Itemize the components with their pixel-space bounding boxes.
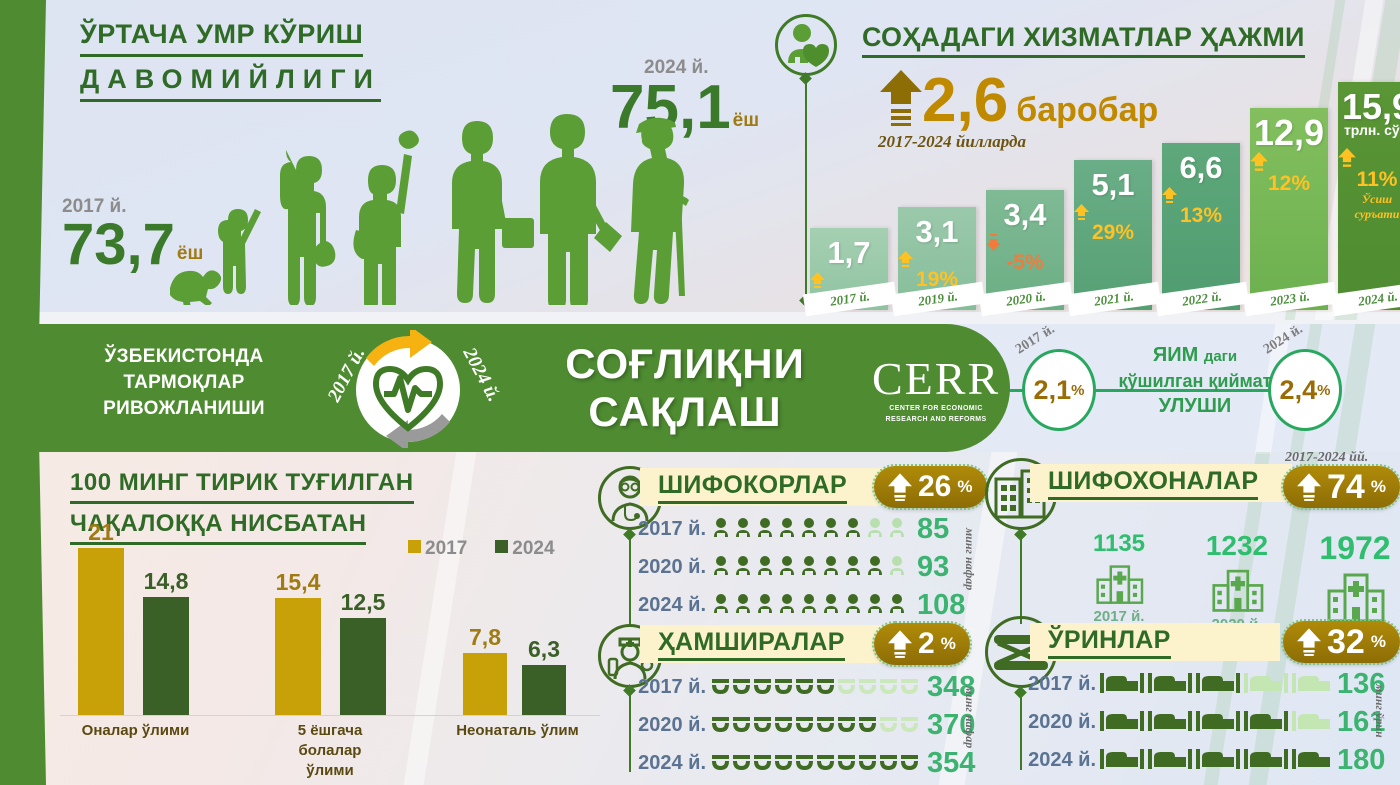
arrow-up-icon <box>1297 472 1321 502</box>
beds-title: ЎРИНЛАР <box>1048 626 1171 659</box>
beds-unit-label: минг ўрин <box>1372 684 1387 738</box>
bar-2023-value: 12,9 <box>1250 108 1328 150</box>
nurses-change-badge: 2% <box>874 623 970 665</box>
band-subtitle-line2: ТАРМОҚЛАР <box>64 370 304 396</box>
hospitals-change-badge: 74% <box>1283 466 1400 508</box>
gdp-share-label: ЯИМ даги қўшилган қиймат УЛУШИ <box>1105 343 1285 419</box>
mortality-title-line1: 100 МИНГ ТИРИК ТУҒИЛГАН <box>70 466 414 504</box>
doctors-header: ШИФОКОРЛАР <box>640 468 890 506</box>
band-subtitle: ЎЗБЕКИСТОНДА ТАРМОҚЛАР РИВОЖЛАНИШИ <box>64 344 304 422</box>
list-item: 2020 й. 370 <box>630 706 975 744</box>
hospitals-value: 1972 <box>1296 530 1400 567</box>
bar-2024-value: 15,9 <box>1338 82 1400 124</box>
bed-pictogram-row <box>1100 745 1330 775</box>
hospitals-value: 1232 <box>1178 530 1296 562</box>
mortality-bar-2017-g3: 7,8 <box>463 653 507 715</box>
mortality-bar-2024-g3: 6,3 <box>522 665 566 715</box>
bed-pictogram-row <box>1100 707 1330 737</box>
list-item: 2020 й. 93 <box>630 548 965 586</box>
nurse-pictogram-row <box>710 713 920 737</box>
doctors-rows: 2017 й. 85 2020 й. <box>630 510 965 624</box>
list-item: 2017 й. 85 <box>630 510 965 548</box>
main-title-line1: СОҒЛИҚНИ <box>520 340 850 388</box>
beds-rows: 2017 й. 136 2020 й. <box>1020 665 1385 779</box>
nurses-rows: 2017 й. 348 2020 й. <box>630 668 975 782</box>
arrow-up-icon <box>888 629 912 659</box>
cerr-tagline-line2: RESEARCH AND REFORMS <box>872 415 1000 424</box>
doctors-unit-label: минг нафар <box>962 528 977 590</box>
list-item: 2017 й. 348 <box>630 668 975 706</box>
bar-2017-value: 1,7 <box>810 228 888 270</box>
bar-2020: 3,4 -5% 2020 й. <box>986 190 1064 310</box>
mortality-bar-2017-g2: 15,4 <box>275 598 321 715</box>
list-item: 2020 й. 161 <box>1020 703 1385 741</box>
doctors-row-value: 85 <box>917 513 949 546</box>
person-heart-icon <box>775 14 837 76</box>
nurses-row-year: 2017 й. <box>630 676 706 699</box>
services-bar-chart: 1,7 17% 2017 й. 3,1 19% 2019 й. 3,4 -5% … <box>800 80 1400 310</box>
gdp-2017-value: 2,1 <box>1034 375 1072 406</box>
band-subtitle-line1: ЎЗБЕКИСТОНДА <box>64 344 304 370</box>
gdp-label-line1-suffix: даги <box>1204 348 1237 365</box>
nurses-change-unit: % <box>941 634 956 654</box>
hospitals-period: 2017-2024 йй. <box>1285 450 1368 466</box>
bar-2021-value: 5,1 <box>1074 160 1152 202</box>
gdp-label-line3: УЛУШИ <box>1105 394 1285 419</box>
nurses-change-value: 2 <box>918 627 935 661</box>
mortality-bar-2017-g1: 21 <box>78 548 124 715</box>
nurses-title: ҲАМШИРАЛАР <box>658 628 845 661</box>
bar-2021: 5,1 29% 2021 й. <box>1074 160 1152 310</box>
doctors-row-year: 2017 й. <box>630 518 706 541</box>
life-title-line1: ЎРТАЧА УМР КЎРИШ <box>80 16 363 57</box>
mortality-label-2024-g3: 6,3 <box>528 636 560 665</box>
hospitals-change-unit: % <box>1371 477 1386 497</box>
hospital-icon <box>1209 564 1265 614</box>
doctors-change-value: 26 <box>918 470 951 504</box>
bed-pictogram-row <box>1100 669 1330 699</box>
bar-2024-unit: трлн. сўм <box>1338 122 1400 138</box>
cerr-wordmark: CERR <box>872 356 1000 402</box>
connector-line <box>1020 534 1022 624</box>
hospitals-change-value: 74 <box>1327 468 1365 507</box>
gdp-2017-unit: % <box>1071 382 1084 399</box>
band-subtitle-line3: РИВОЖЛАНИШИ <box>64 396 304 422</box>
beds-row-year: 2024 й. <box>1020 749 1096 772</box>
doctors-title: ШИФОКОРЛАР <box>658 471 847 504</box>
gdp-label-line2: қўшилган қиймат <box>1105 369 1285 394</box>
mortality-label-2017-g1: 21 <box>88 519 114 548</box>
people-silhouettes <box>150 70 750 305</box>
nurses-header: ҲАМШИРАЛАР <box>640 625 885 663</box>
main-title: СОҒЛИҚНИ САҚЛАШ <box>520 340 850 436</box>
cerr-tagline-line1: CENTER FOR ECONOMIC <box>872 404 1000 413</box>
beds-row-year: 2017 й. <box>1020 673 1096 696</box>
doctor-pictogram-row <box>710 515 910 543</box>
mortality-group-label-3: Неонаталь ўлим <box>445 721 590 741</box>
gdp-2017-circle: 2,1% <box>1022 349 1096 431</box>
nurses-unit-label: минг нафар <box>962 686 977 748</box>
mortality-label-2017-g3: 7,8 <box>469 624 501 653</box>
main-title-line2: САҚЛАШ <box>520 388 850 436</box>
doctors-change-unit: % <box>957 477 972 497</box>
beds-row-value: 180 <box>1337 744 1385 777</box>
bar-2017: 1,7 17% 2017 й. <box>810 228 888 310</box>
beds-change-badge: 32% <box>1283 621 1400 663</box>
doctors-change-badge: 26% <box>874 466 987 508</box>
beds-row-year: 2020 й. <box>1020 711 1096 734</box>
doctor-pictogram-row <box>710 591 910 619</box>
mortality-group-label-1: Оналар ўлими <box>68 721 203 741</box>
hospital-icon <box>1094 560 1144 606</box>
nurse-pictogram-row <box>710 675 920 699</box>
bar-2022: 6,6 13% 2022 й. <box>1162 143 1240 310</box>
services-title: СОҲАДАГИ ХИЗМАТЛАР ҲАЖМИ <box>862 22 1305 58</box>
gdp-2024-unit: % <box>1317 382 1330 399</box>
bar-2024: 15,9 трлн. сўм 11% Ўсиш суръати 2024 й. <box>1338 82 1400 310</box>
list-item: 2024 й. 180 <box>1020 741 1385 779</box>
mortality-label-2017-g2: 15,4 <box>276 569 321 598</box>
nurse-pictogram-row <box>710 751 920 775</box>
bar-2022-growth: 13% <box>1162 187 1240 228</box>
mortality-bar-2024-g1: 14,8 <box>143 597 189 715</box>
doctor-pictogram-row <box>710 553 910 581</box>
list-item: 2024 й. 108 <box>630 586 965 624</box>
bar-2019: 3,1 19% 2019 й. <box>898 207 976 310</box>
hospitals-title: ШИФОХОНАЛАР <box>1048 467 1258 500</box>
nurses-row-year: 2020 й. <box>630 714 706 737</box>
services-title-text: СОҲАДАГИ ХИЗМАТЛАР ҲАЖМИ <box>862 22 1305 58</box>
bar-2021-growth: 29% <box>1074 204 1152 245</box>
arrow-up-icon <box>888 472 912 502</box>
cerr-logo[interactable]: CERR CENTER FOR ECONOMIC RESEARCH AND RE… <box>872 356 1000 424</box>
beds-header: ЎРИНЛАР <box>1030 623 1280 661</box>
bar-2024-growth: 11% <box>1338 148 1400 192</box>
arrow-up-icon <box>1297 627 1321 657</box>
chart-baseline <box>60 715 600 716</box>
bar-2022-value: 6,6 <box>1162 143 1240 185</box>
doctors-row-value: 108 <box>917 589 965 622</box>
gdp-2024-value: 2,4 <box>1280 375 1318 406</box>
mortality-label-2024-g2: 12,5 <box>341 589 386 618</box>
bar-2020-growth: -5% <box>986 234 1064 275</box>
mortality-bar-2024-g2: 12,5 <box>340 618 386 715</box>
list-item: 2017 й. 136 <box>1020 665 1385 703</box>
mortality-bar-chart: 21 14,8 Оналар ўлими 15,4 12,5 5 ёшгачаб… <box>60 525 600 785</box>
hospitals-header: ШИФОХОНАЛАР <box>1030 464 1292 502</box>
doctors-row-year: 2020 й. <box>630 556 706 579</box>
bar-2020-value: 3,4 <box>986 190 1064 232</box>
nurses-row-value: 354 <box>927 747 975 780</box>
list-item: 2024 й. 354 <box>630 744 975 782</box>
mortality-label-2024-g1: 14,8 <box>144 568 189 597</box>
panel-gap <box>0 312 1400 324</box>
bar-2019-value: 3,1 <box>898 207 976 249</box>
beds-change-value: 32 <box>1327 623 1365 662</box>
bar-2023: 12,9 12% 2023 й. <box>1250 108 1328 310</box>
doctors-row-year: 2024 й. <box>630 594 706 617</box>
beds-change-unit: % <box>1371 632 1386 652</box>
mortality-group-label-2: 5 ёшгачаболаларўлими <box>270 721 390 781</box>
hospitals-value: 1135 <box>1060 530 1178 558</box>
gdp-label-line1: ЯИМ <box>1153 344 1198 366</box>
nurses-row-year: 2024 й. <box>630 752 706 775</box>
doctors-row-value: 93 <box>917 551 949 584</box>
years-emblem: 2017 й. 2024 й. <box>300 330 516 448</box>
hospital-icon <box>1324 569 1386 625</box>
bar-2024-growth-label: Ўсиш суръати <box>1338 192 1400 222</box>
bar-2023-growth: 12% <box>1250 152 1328 196</box>
